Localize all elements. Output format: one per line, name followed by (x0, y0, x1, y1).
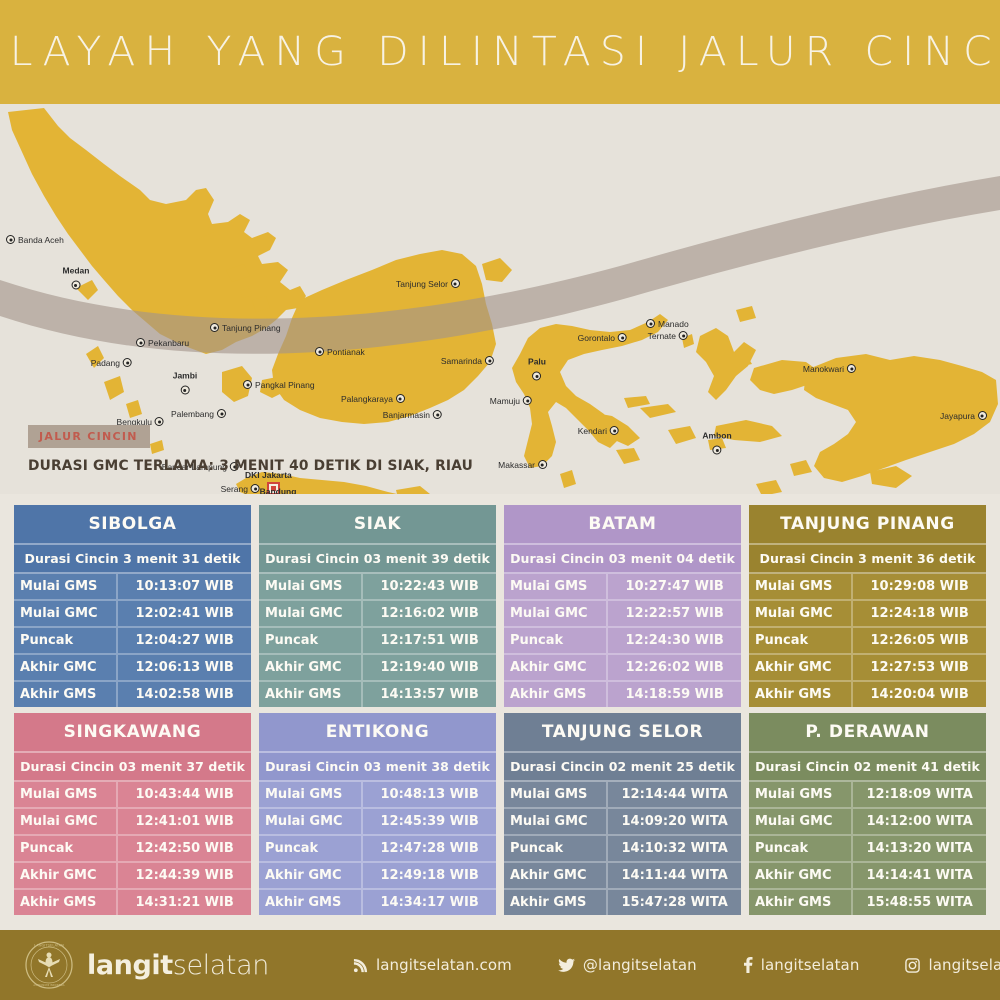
card-row-list: Mulai GMS10:27:47 WIBMulai GMC12:22:57 W… (504, 574, 741, 707)
map-caption: DURASI GMC TERLAMA: 3 MENIT 40 DETIK DI … (28, 458, 951, 474)
card-row-value: 14:34:17 WIB (363, 890, 496, 915)
card-title: SIBOLGA (14, 505, 251, 543)
location-card: ENTIKONGDurasi Cincin 03 menit 38 detikM… (259, 713, 496, 915)
card-row-value: 12:49:18 WIB (363, 863, 496, 888)
page-title: WILAYAH YANG DILINTASI JALUR CINCIN (0, 29, 1000, 75)
card-row: Mulai GMC14:09:20 WITA (504, 807, 741, 834)
card-row-label: Mulai GMS (14, 782, 118, 807)
card-row-value: 10:27:47 WIB (608, 574, 741, 599)
card-row: Puncak12:04:27 WIB (14, 626, 251, 653)
landmass-banggai (624, 396, 650, 408)
card-duration-subtitle: Durasi Cincin 02 menit 25 detik (504, 751, 741, 782)
social-link-facebook[interactable]: langitselatan (743, 956, 860, 974)
card-row-label: Akhir GMS (259, 682, 363, 707)
card-row-value: 12:42:50 WIB (118, 836, 251, 861)
card-row: Mulai GMS10:13:07 WIB (14, 574, 251, 599)
card-row: Mulai GMS10:27:47 WIB (504, 574, 741, 599)
card-row-label: Mulai GMC (14, 809, 118, 834)
card-row-value: 14:12:00 WITA (853, 809, 986, 834)
card-row: Akhir GMC12:26:02 WIB (504, 653, 741, 680)
card-row-value: 12:19:40 WIB (363, 655, 496, 680)
card-row-label: Puncak (259, 628, 363, 653)
card-row-value: 12:26:02 WIB (608, 655, 741, 680)
card-row: Akhir GMC12:49:18 WIB (259, 861, 496, 888)
card-row: Mulai GMS10:29:08 WIB (749, 574, 986, 599)
card-row: Akhir GMS14:34:17 WIB (259, 888, 496, 915)
card-row-value: 12:17:51 WIB (363, 628, 496, 653)
card-row-label: Mulai GMC (259, 601, 363, 626)
card-row-value: 15:48:55 WITA (853, 890, 986, 915)
card-row-value: 14:20:04 WIB (853, 682, 986, 707)
card-row-label: Akhir GMS (14, 890, 118, 915)
landmass-sula (640, 404, 676, 418)
card-row: Akhir GMS14:31:21 WIB (14, 888, 251, 915)
card-row-value: 12:06:13 WIB (118, 655, 251, 680)
card-row: Mulai GMC12:22:57 WIB (504, 599, 741, 626)
card-row: Mulai GMS10:43:44 WIB (14, 782, 251, 807)
legend-jalur-cincin: JALUR CINCIN (28, 425, 150, 448)
card-row-label: Akhir GMS (749, 682, 853, 707)
card-row-label: Akhir GMS (504, 682, 608, 707)
svg-text:ASTRONOMI INDONESIA: ASTRONOMI INDONESIA (33, 983, 64, 987)
card-row-label: Akhir GMC (749, 655, 853, 680)
card-row-value: 12:44:39 WIB (118, 863, 251, 888)
card-title: BATAM (504, 505, 741, 543)
landmass-mentawai-2 (104, 376, 124, 400)
card-row-label: Akhir GMS (259, 890, 363, 915)
social-links: langitselatan.com@langitselatanlangitsel… (353, 956, 1000, 974)
card-row-label: Puncak (14, 628, 118, 653)
card-row-value: 14:11:44 WITA (608, 863, 741, 888)
card-row-value: 12:18:09 WITA (853, 782, 986, 807)
location-card: TANJUNG PINANGDurasi Cincin 3 menit 36 d… (749, 505, 986, 707)
card-row-value: 12:27:53 WIB (853, 655, 986, 680)
card-row-label: Mulai GMC (504, 809, 608, 834)
social-link-label: langitselatan.com (376, 956, 512, 974)
card-row-value: 12:24:18 WIB (853, 601, 986, 626)
card-row-label: Mulai GMS (259, 782, 363, 807)
card-row: Puncak12:42:50 WIB (14, 834, 251, 861)
card-row-value: 12:47:28 WIB (363, 836, 496, 861)
location-card: SINGKAWANGDurasi Cincin 03 menit 37 deti… (14, 713, 251, 915)
card-row-label: Mulai GMS (749, 574, 853, 599)
landmass-morotai (736, 306, 756, 322)
card-row-value: 10:43:44 WIB (118, 782, 251, 807)
brand-name-light: selatan (173, 950, 269, 981)
card-row-value: 12:45:39 WIB (363, 809, 496, 834)
card-row-label: Mulai GMC (259, 809, 363, 834)
card-row-value: 14:09:20 WITA (608, 809, 741, 834)
card-row-label: Mulai GMC (504, 601, 608, 626)
card-title: SIAK (259, 505, 496, 543)
card-row: Mulai GMC12:24:18 WIB (749, 599, 986, 626)
card-row-label: Puncak (749, 836, 853, 861)
card-row-value: 12:41:01 WIB (118, 809, 251, 834)
card-row: Mulai GMC12:41:01 WIB (14, 807, 251, 834)
card-duration-subtitle: Durasi Cincin 03 menit 04 detik (504, 543, 741, 574)
social-link-label: langitselatanmedia (928, 956, 1000, 974)
card-row: Mulai GMS10:22:43 WIB (259, 574, 496, 599)
card-row: Akhir GMS15:48:55 WITA (749, 888, 986, 915)
card-row-label: Mulai GMC (14, 601, 118, 626)
infographic-page: WILAYAH YANG DILINTASI JALUR CINCIN (0, 0, 1000, 1000)
social-link-rss[interactable]: langitselatan.com (353, 956, 512, 974)
card-row-value: 12:24:30 WIB (608, 628, 741, 653)
card-row: Mulai GMC12:16:02 WIB (259, 599, 496, 626)
landmass-tanimbar (756, 480, 782, 494)
landmass-nias (76, 280, 98, 300)
card-row-label: Mulai GMS (504, 782, 608, 807)
card-row-list: Mulai GMS10:43:44 WIBMulai GMC12:41:01 W… (14, 782, 251, 915)
card-row-list: Mulai GMS10:29:08 WIBMulai GMC12:24:18 W… (749, 574, 986, 707)
location-card: SIBOLGADurasi Cincin 3 menit 31 detikMul… (14, 505, 251, 707)
card-row-value: 14:18:59 WIB (608, 682, 741, 707)
card-row-value: 10:29:08 WIB (853, 574, 986, 599)
card-title: P. DERAWAN (749, 713, 986, 751)
landmass-mentawai-3 (126, 400, 142, 418)
card-row: Akhir GMC12:27:53 WIB (749, 653, 986, 680)
card-row: Mulai GMS10:48:13 WIB (259, 782, 496, 807)
card-row: Puncak12:26:05 WIB (749, 626, 986, 653)
landmass-kalimantan-east-tip (482, 258, 512, 282)
location-card: SIAKDurasi Cincin 03 menit 39 detikMulai… (259, 505, 496, 707)
card-row: Puncak14:10:32 WITA (504, 834, 741, 861)
rss-icon (353, 958, 368, 973)
card-row: Akhir GMC12:06:13 WIB (14, 653, 251, 680)
map-caption-zone: JALUR CINCIN DURASI GMC TERLAMA: 3 MENIT… (0, 425, 1000, 474)
card-row-label: Akhir GMC (504, 863, 608, 888)
card-row-label: Mulai GMC (749, 809, 853, 834)
card-row-value: 10:22:43 WIB (363, 574, 496, 599)
brand-name-bold: langit (87, 950, 173, 981)
card-row-label: Akhir GMC (259, 863, 363, 888)
social-link-label: langitselatan (761, 956, 860, 974)
landmass-bangka (222, 366, 252, 402)
card-row: Akhir GMC14:11:44 WITA (504, 861, 741, 888)
card-row-label: Puncak (504, 628, 608, 653)
landmass-madura (396, 486, 430, 494)
card-row-value: 12:22:57 WIB (608, 601, 741, 626)
card-row-label: Akhir GMC (259, 655, 363, 680)
card-row-list: Mulai GMS10:13:07 WIBMulai GMC12:02:41 W… (14, 574, 251, 707)
card-duration-subtitle: Durasi Cincin 03 menit 37 detik (14, 751, 251, 782)
card-row-label: Mulai GMS (504, 574, 608, 599)
card-row-list: Mulai GMS10:48:13 WIBMulai GMC12:45:39 W… (259, 782, 496, 915)
card-row-label: Mulai GMS (14, 574, 118, 599)
card-row: Mulai GMC12:02:41 WIB (14, 599, 251, 626)
card-row-value: 12:04:27 WIB (118, 628, 251, 653)
card-row-label: Mulai GMS (259, 574, 363, 599)
card-row-value: 14:02:58 WIB (118, 682, 251, 707)
langitselatan-seal-icon: LANGITSELATAN ASTRONOMI INDONESIA (24, 940, 74, 990)
card-row-label: Akhir GMC (14, 655, 118, 680)
location-card: TANJUNG SELORDurasi Cincin 02 menit 25 d… (504, 713, 741, 915)
card-row: Mulai GMS12:18:09 WITA (749, 782, 986, 807)
card-duration-subtitle: Durasi Cincin 3 menit 31 detik (14, 543, 251, 574)
card-row-label: Mulai GMS (749, 782, 853, 807)
card-row: Akhir GMS14:18:59 WIB (504, 680, 741, 707)
social-link-instagram[interactable]: langitselatanmedia (905, 956, 1000, 974)
card-row-value: 15:47:28 WITA (608, 890, 741, 915)
card-row: Mulai GMS12:14:44 WITA (504, 782, 741, 807)
card-row-value: 10:48:13 WIB (363, 782, 496, 807)
card-row-label: Akhir GMC (14, 863, 118, 888)
card-row-value: 14:14:41 WITA (853, 863, 986, 888)
card-duration-subtitle: Durasi Cincin 02 menit 41 detik (749, 751, 986, 782)
card-row-label: Akhir GMS (749, 890, 853, 915)
card-row-value: 10:13:07 WIB (118, 574, 251, 599)
card-row-label: Puncak (259, 836, 363, 861)
card-row: Akhir GMS14:20:04 WIB (749, 680, 986, 707)
location-card: P. DERAWANDurasi Cincin 02 menit 41 deti… (749, 713, 986, 915)
card-row-list: Mulai GMS10:22:43 WIBMulai GMC12:16:02 W… (259, 574, 496, 707)
card-duration-subtitle: Durasi Cincin 03 menit 39 detik (259, 543, 496, 574)
card-row: Akhir GMS15:47:28 WITA (504, 888, 741, 915)
social-link-twitter[interactable]: @langitselatan (558, 956, 697, 974)
card-row: Akhir GMS14:13:57 WIB (259, 680, 496, 707)
card-row-label: Akhir GMS (504, 890, 608, 915)
card-row-value: 12:16:02 WIB (363, 601, 496, 626)
page-footer: LANGITSELATAN ASTRONOMI INDONESIA langit… (0, 930, 1000, 1000)
card-row-value: 14:31:21 WIB (118, 890, 251, 915)
card-row-value: 14:13:20 WITA (853, 836, 986, 861)
card-title: SINGKAWANG (14, 713, 251, 751)
card-row-label: Puncak (14, 836, 118, 861)
card-row: Mulai GMC14:12:00 WITA (749, 807, 986, 834)
card-row: Puncak14:13:20 WITA (749, 834, 986, 861)
card-row-label: Puncak (749, 628, 853, 653)
card-title: TANJUNG SELOR (504, 713, 741, 751)
card-duration-subtitle: Durasi Cincin 3 menit 36 detik (749, 543, 986, 574)
card-row-value: 12:02:41 WIB (118, 601, 251, 626)
page-header: WILAYAH YANG DILINTASI JALUR CINCIN (0, 0, 1000, 104)
brand-logo: LANGITSELATAN ASTRONOMI INDONESIA langit… (24, 940, 269, 990)
card-row: Akhir GMC14:14:41 WITA (749, 861, 986, 888)
card-row-label: Akhir GMC (749, 863, 853, 888)
card-row-label: Akhir GMS (14, 682, 118, 707)
card-row-list: Mulai GMS12:14:44 WITAMulai GMC14:09:20 … (504, 782, 741, 915)
card-row: Puncak12:24:30 WIB (504, 626, 741, 653)
location-card-grid: SIBOLGADurasi Cincin 3 menit 31 detikMul… (14, 505, 986, 915)
brand-wordmark: langitselatan (87, 950, 269, 981)
landmass-ternate (682, 334, 694, 348)
card-duration-subtitle: Durasi Cincin 03 menit 38 detik (259, 751, 496, 782)
card-row: Akhir GMS14:02:58 WIB (14, 680, 251, 707)
card-row-list: Mulai GMS12:18:09 WITAMulai GMC14:12:00 … (749, 782, 986, 915)
card-title: ENTIKONG (259, 713, 496, 751)
facebook-icon (743, 957, 753, 973)
card-row-value: 14:10:32 WITA (608, 836, 741, 861)
twitter-icon (558, 958, 575, 973)
social-link-label: @langitselatan (583, 956, 697, 974)
instagram-icon (905, 958, 920, 973)
card-row: Puncak12:47:28 WIB (259, 834, 496, 861)
card-row-value: 12:26:05 WIB (853, 628, 986, 653)
card-row-value: 12:14:44 WITA (608, 782, 741, 807)
svg-text:LANGITSELATAN: LANGITSELATAN (34, 944, 64, 948)
card-row: Akhir GMC12:44:39 WIB (14, 861, 251, 888)
card-row-label: Akhir GMC (504, 655, 608, 680)
card-title: TANJUNG PINANG (749, 505, 986, 543)
card-row-value: 14:13:57 WIB (363, 682, 496, 707)
card-row-label: Mulai GMC (749, 601, 853, 626)
card-row: Mulai GMC12:45:39 WIB (259, 807, 496, 834)
card-row: Akhir GMC12:19:40 WIB (259, 653, 496, 680)
landmass-mentawai-1 (86, 346, 104, 368)
card-row: Puncak12:17:51 WIB (259, 626, 496, 653)
location-card: BATAMDurasi Cincin 03 menit 04 detikMula… (504, 505, 741, 707)
card-row-label: Puncak (504, 836, 608, 861)
capital-marker-icon (267, 482, 280, 494)
